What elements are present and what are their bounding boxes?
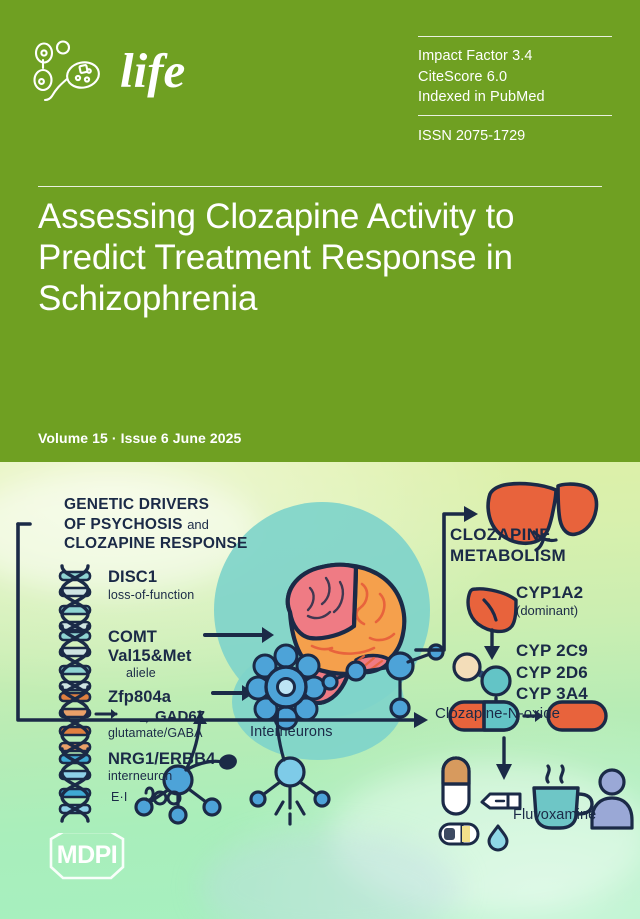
clozapine-metabolism-heading: CLOZAPINE METABOLISM	[450, 524, 610, 566]
liver-icon-small	[468, 589, 516, 632]
journal-cover: life Impact Factor 3.4 CiteScore 6.0 Ind…	[0, 0, 640, 919]
title-line-2: Predict Treatment Response in	[38, 237, 604, 278]
metric-citescore: CiteScore 6.0	[418, 67, 612, 88]
dna-helix-icon-disc1	[60, 566, 90, 638]
title-line-1: Assessing Clozapine Activity to	[38, 196, 604, 237]
metabolite-label: Clozapine-N-oxide	[435, 705, 560, 722]
genetic-heading-line2: OF PSYCHOSIS	[64, 516, 183, 533]
gene-sub-disc1: loss-of-function	[108, 588, 194, 602]
gene-name-zfp804a: Zfp804a	[108, 688, 203, 707]
metabolism-heading-line2: METABOLISM	[450, 546, 566, 565]
pill-icon-horizontal	[440, 824, 478, 844]
cell-organism-icon	[28, 40, 116, 106]
gene-sub-comt: aliele	[126, 666, 191, 680]
gene-target-gad67: GAD67	[155, 708, 205, 725]
gene-name-comt: COMT	[108, 628, 191, 647]
metric-indexing: Indexed in PubMed	[418, 87, 612, 108]
interneuron-cell-icon	[247, 645, 325, 729]
dna-helix-icon-comt	[60, 626, 90, 698]
genetic-drivers-heading: GENETIC DRIVERS OF PSYCHOSIS and CLOZAPI…	[64, 495, 270, 554]
title-line-3: Schizophrenia	[38, 278, 604, 319]
dna-helix-icon-zfp804a	[60, 687, 90, 759]
journal-name: life	[120, 38, 185, 104]
page-title: Assessing Clozapine Activity to Predict …	[38, 196, 604, 319]
enzyme-cyp1a2-note: (dominant)	[516, 603, 578, 618]
gene-sub-nrg1: interneuron	[108, 769, 215, 783]
cover-header: life Impact Factor 3.4 CiteScore 6.0 Ind…	[0, 0, 640, 462]
volume-issue-label: Volume 15 · Issue 6 June 2025	[38, 430, 241, 446]
ei-balance-label: E·I	[111, 790, 128, 804]
gene-name-nrg1: NRG1/ERBB4	[108, 750, 215, 769]
enzyme-cyp3a4: CYP 3A4	[516, 683, 588, 705]
interaction-label-fluvoxamine: Fluvoxamine	[513, 807, 596, 823]
interneurons-label: Interneurons	[250, 724, 333, 740]
journal-metrics: Impact Factor 3.4 CiteScore 6.0 Indexed …	[418, 36, 612, 146]
gene-entry-nrg1: NRG1/ERBB4 interneuron	[108, 750, 215, 783]
gene-sub-zfp804a: glutamate/GABA	[108, 726, 203, 740]
metabolism-heading-line1: CLOZAPINE	[450, 525, 551, 544]
mdpi-wordmark: MDPI	[57, 841, 118, 869]
gene-entry-disc1: DISC1 loss-of-function	[108, 568, 194, 602]
title-divider	[38, 186, 602, 187]
arrow-metabolite-down	[496, 738, 512, 780]
capsule-icon-vertical	[443, 758, 469, 814]
genetic-heading-line1: GENETIC DRIVERS	[64, 496, 209, 513]
gene-name-disc1: DISC1	[108, 568, 194, 587]
enzyme-cyp1a2: CYP1A2	[516, 583, 583, 603]
gene-entry-comt: COMT Val15&Met aliele	[108, 628, 191, 680]
enzyme-cyp2d6: CYP 2D6	[516, 662, 588, 684]
journal-issn: ISSN 2075-1729	[418, 116, 612, 146]
gad67-arrow-icon: →	[137, 711, 151, 727]
journal-logo: life	[28, 38, 208, 108]
genetic-heading-and: and	[187, 517, 209, 532]
dna-helix-icon-nrg1	[60, 749, 90, 821]
droplet-icon	[489, 826, 507, 850]
enzyme-list-secondary: CYP 2C9 CYP 2D6 CYP 3A4	[516, 640, 588, 705]
enzyme-cyp2c9: CYP 2C9	[516, 640, 588, 662]
gene-allele-comt: Val15&Met	[108, 647, 191, 666]
arrow-cyp1a2-down	[484, 630, 500, 660]
person-icon	[592, 770, 632, 828]
cigarette-icon	[482, 794, 520, 808]
molecule-icon	[454, 654, 510, 695]
mdpi-logo: MDPI	[33, 833, 129, 887]
genetic-heading-line3: CLOZAPINE RESPONSE	[64, 535, 248, 552]
metric-impact-factor: Impact Factor 3.4	[418, 46, 612, 67]
